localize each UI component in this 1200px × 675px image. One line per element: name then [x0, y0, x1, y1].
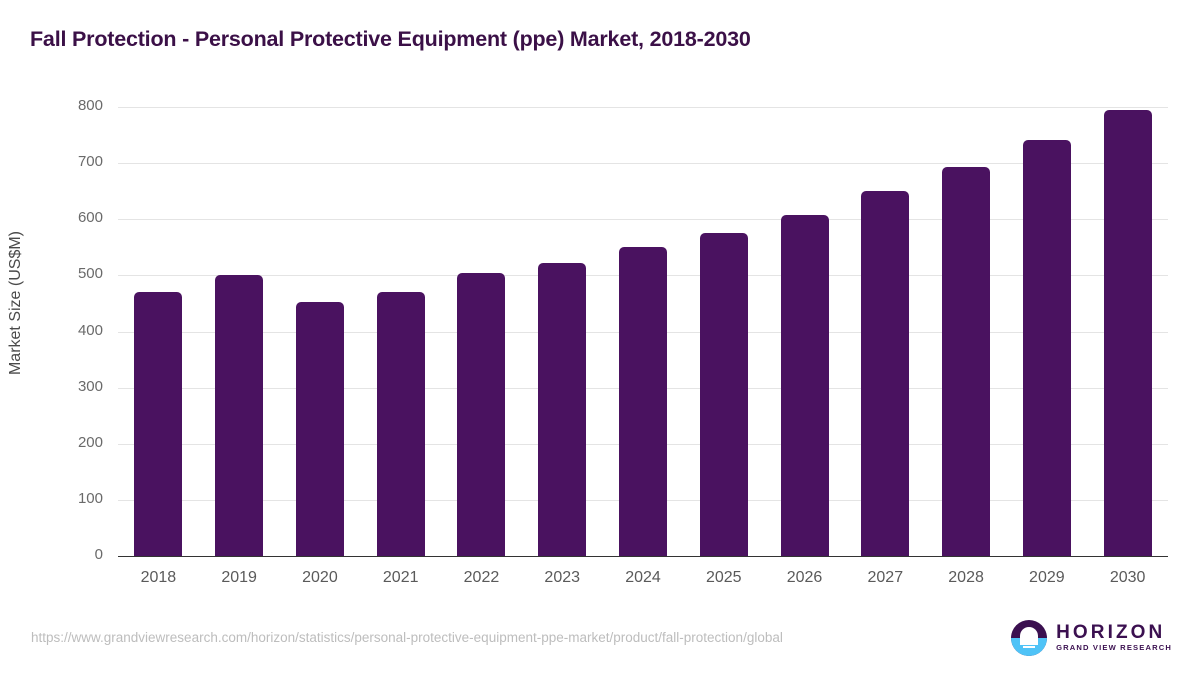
bar[interactable]	[134, 292, 182, 556]
y-tick-label: 700	[55, 153, 103, 170]
horizon-logo[interactable]: HORIZON GRAND VIEW RESEARCH	[1011, 618, 1172, 658]
source-url[interactable]: https://www.grandviewresearch.com/horizo…	[31, 630, 783, 645]
y-tick-label: 100	[55, 490, 103, 507]
bar[interactable]	[781, 215, 829, 556]
x-tick-label: 2025	[679, 569, 769, 587]
x-tick-label: 2020	[275, 569, 365, 587]
x-tick-label: 2018	[113, 569, 203, 587]
bar[interactable]	[619, 247, 667, 556]
y-tick-label: 300	[55, 378, 103, 395]
x-tick-label: 2024	[598, 569, 688, 587]
x-tick-label: 2022	[436, 569, 526, 587]
logo-wordmark: HORIZON	[1056, 623, 1172, 643]
x-tick-label: 2030	[1083, 569, 1173, 587]
gridline	[118, 219, 1168, 220]
logo-horizon-line-2	[1023, 646, 1035, 648]
bar[interactable]	[1104, 110, 1152, 556]
bar[interactable]	[1023, 140, 1071, 556]
x-tick-label: 2021	[356, 569, 446, 587]
bar[interactable]	[296, 302, 344, 556]
bar[interactable]	[942, 167, 990, 557]
y-tick-label: 400	[55, 322, 103, 339]
logo-tagline: GRAND VIEW RESEARCH	[1056, 643, 1172, 652]
plot-area: 2018201920202021202220232024202520262027…	[118, 107, 1168, 556]
x-tick-label: 2023	[517, 569, 607, 587]
logo-text-block: HORIZON GRAND VIEW RESEARCH	[1056, 623, 1172, 652]
y-tick-label: 800	[55, 97, 103, 114]
bar[interactable]	[457, 273, 505, 556]
x-tick-label: 2019	[194, 569, 284, 587]
logo-horizon-line-1	[1020, 642, 1038, 644]
x-tick-label: 2028	[921, 569, 1011, 587]
x-tick-label: 2026	[760, 569, 850, 587]
gridline	[118, 107, 1168, 108]
gridline	[118, 163, 1168, 164]
y-tick-label: 0	[55, 546, 103, 563]
bar[interactable]	[538, 263, 586, 556]
y-tick-label: 200	[55, 434, 103, 451]
x-axis-line	[118, 556, 1168, 558]
bar[interactable]	[700, 233, 748, 556]
x-tick-label: 2027	[840, 569, 930, 587]
bar[interactable]	[377, 292, 425, 556]
bar[interactable]	[861, 191, 909, 556]
bar[interactable]	[215, 275, 263, 556]
y-tick-label: 500	[55, 265, 103, 282]
chart-page: Fall Protection - Personal Protective Eq…	[0, 0, 1200, 675]
x-tick-label: 2029	[1002, 569, 1092, 587]
horizon-logo-icon	[1011, 620, 1047, 656]
y-tick-label: 600	[55, 209, 103, 226]
y-axis-title: Market Size (US$M)	[7, 0, 25, 633]
